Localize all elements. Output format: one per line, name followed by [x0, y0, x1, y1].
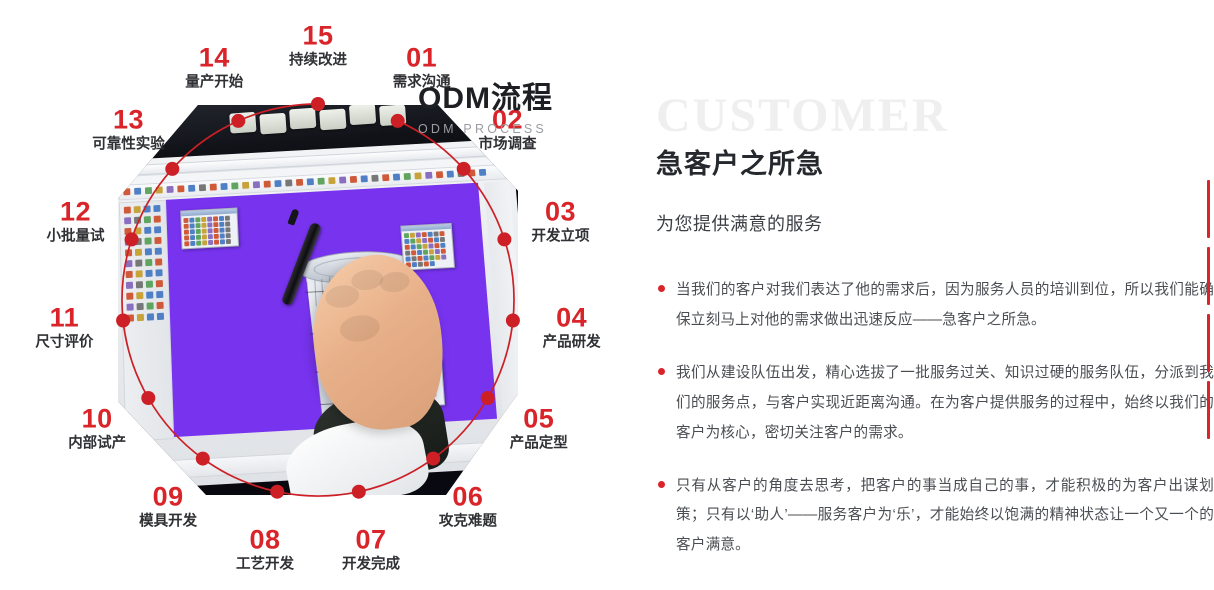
- process-step-10[interactable]: 10内部试产: [68, 405, 126, 451]
- customer-bullet-text: 只有从客户的角度去思考，把客户的事当成自己的事，才能积极的为客户出谋划策；只有以…: [676, 472, 1214, 562]
- process-step-number: 15: [289, 22, 347, 49]
- process-ring-dot[interactable]: [311, 97, 325, 111]
- process-step-label: 开发立项: [532, 229, 590, 244]
- process-ring-dot[interactable]: [116, 314, 130, 328]
- process-step-number: 08: [236, 527, 294, 554]
- process-ring-dot[interactable]: [196, 452, 210, 466]
- process-step-number: 09: [139, 484, 197, 511]
- process-step-label: 工艺开发: [236, 558, 294, 573]
- customer-bullet-item: 当我们的客户对我们表达了他的需求后，因为服务人员的培训到位，所以我们能确保立刻马…: [654, 276, 1214, 336]
- customer-bullet-text: 我们从建设队伍出发，精心选拔了一批服务过关、知识过硬的服务队伍，分派到我们的服务…: [676, 359, 1214, 449]
- process-step-09[interactable]: 09模具开发: [139, 484, 197, 530]
- customer-bullet-text: 当我们的客户对我们表达了他的需求后，因为服务人员的培训到位，所以我们能确保立刻马…: [676, 276, 1214, 336]
- process-ring-dot[interactable]: [165, 162, 179, 176]
- process-step-number: 04: [543, 304, 601, 331]
- bullet-dot-icon: [658, 481, 665, 488]
- process-step-13[interactable]: 13可靠性实验: [92, 107, 165, 153]
- edge-rule-segment: [1207, 247, 1210, 305]
- process-step-03[interactable]: 03开发立项: [532, 198, 590, 244]
- process-step-number: 05: [510, 405, 568, 432]
- process-step-number: 14: [185, 44, 243, 71]
- process-ring-arc: [122, 104, 514, 496]
- process-step-14[interactable]: 14量产开始: [185, 44, 243, 90]
- customer-bullet-item: 只有从客户的角度去思考，把客户的事当成自己的事，才能积极的为客户出谋划策；只有以…: [654, 472, 1214, 562]
- process-step-06[interactable]: 06攻克难题: [439, 484, 497, 530]
- process-step-12[interactable]: 12小批量试: [47, 198, 105, 244]
- edge-rule-segment: [1207, 381, 1210, 439]
- process-ring-dot[interactable]: [141, 391, 155, 405]
- process-step-number: 03: [532, 198, 590, 225]
- customer-heading: 急客户之所急: [656, 151, 824, 178]
- process-ring-dot[interactable]: [497, 232, 511, 246]
- customer-bullet-list: 当我们的客户对我们表达了他的需求后，因为服务人员的培训到位，所以我们能确保立刻马…: [654, 276, 1214, 584]
- process-step-label: 产品研发: [543, 335, 601, 350]
- process-step-04[interactable]: 04产品研发: [543, 304, 601, 350]
- process-ring-dot[interactable]: [457, 162, 471, 176]
- process-ring-dot[interactable]: [481, 391, 495, 405]
- process-step-08[interactable]: 08工艺开发: [236, 527, 294, 573]
- odm-process-panel: 01需求沟通02市场调查03开发立项04产品研发05产品定型06攻克难题07开发…: [0, 0, 630, 590]
- process-ring-dot[interactable]: [426, 452, 440, 466]
- process-step-number: 10: [68, 405, 126, 432]
- process-step-label: 市场调查: [479, 138, 537, 153]
- process-step-label: 量产开始: [185, 75, 243, 90]
- process-step-11[interactable]: 11尺寸评价: [35, 304, 93, 350]
- edge-rule-segment: [1207, 180, 1210, 238]
- odm-title-cn: ODM流程: [418, 84, 553, 114]
- odm-title-block: ODM流程 ODM PROCESS: [418, 84, 553, 136]
- edge-rule-segment: [1207, 314, 1210, 372]
- process-step-label: 尺寸评价: [35, 335, 93, 350]
- process-step-label: 可靠性实验: [92, 138, 165, 153]
- customer-subheading: 为您提供满意的服务: [656, 215, 823, 233]
- process-ring-dot[interactable]: [125, 232, 139, 246]
- customer-bullet-item: 我们从建设队伍出发，精心选拔了一批服务过关、知识过硬的服务队伍，分派到我们的服务…: [654, 359, 1214, 449]
- odm-title-en: ODM PROCESS: [418, 123, 553, 136]
- process-step-label: 攻克难题: [439, 515, 497, 530]
- process-ring-dot[interactable]: [352, 485, 366, 499]
- customer-copy-panel: CUSTOMER 急客户之所急 为您提供满意的服务 当我们的客户对我们表达了他的…: [648, 0, 1214, 590]
- bullet-dot-icon: [658, 368, 665, 375]
- process-step-label: 模具开发: [139, 515, 197, 530]
- process-step-15[interactable]: 15持续改进: [289, 22, 347, 68]
- process-step-number: 12: [47, 198, 105, 225]
- process-step-number: 01: [393, 44, 451, 71]
- customer-watermark: CUSTOMER: [656, 92, 949, 140]
- process-step-07[interactable]: 07开发完成: [342, 527, 400, 573]
- process-step-number: 13: [92, 107, 165, 134]
- process-step-number: 06: [439, 484, 497, 511]
- process-step-label: 持续改进: [289, 53, 347, 68]
- right-edge-red-rule: [1207, 180, 1210, 440]
- process-step-number: 07: [342, 527, 400, 554]
- process-ring-dot[interactable]: [270, 485, 284, 499]
- process-step-label: 小批量试: [47, 229, 105, 244]
- process-ring-dot[interactable]: [391, 114, 405, 128]
- process-step-label: 产品定型: [510, 436, 568, 451]
- process-ring-dot[interactable]: [506, 314, 520, 328]
- process-step-number: 11: [35, 304, 93, 331]
- process-step-label: 内部试产: [68, 436, 126, 451]
- process-step-label: 开发完成: [342, 558, 400, 573]
- process-step-05[interactable]: 05产品定型: [510, 405, 568, 451]
- bullet-dot-icon: [658, 285, 665, 292]
- process-ring-dot[interactable]: [231, 114, 245, 128]
